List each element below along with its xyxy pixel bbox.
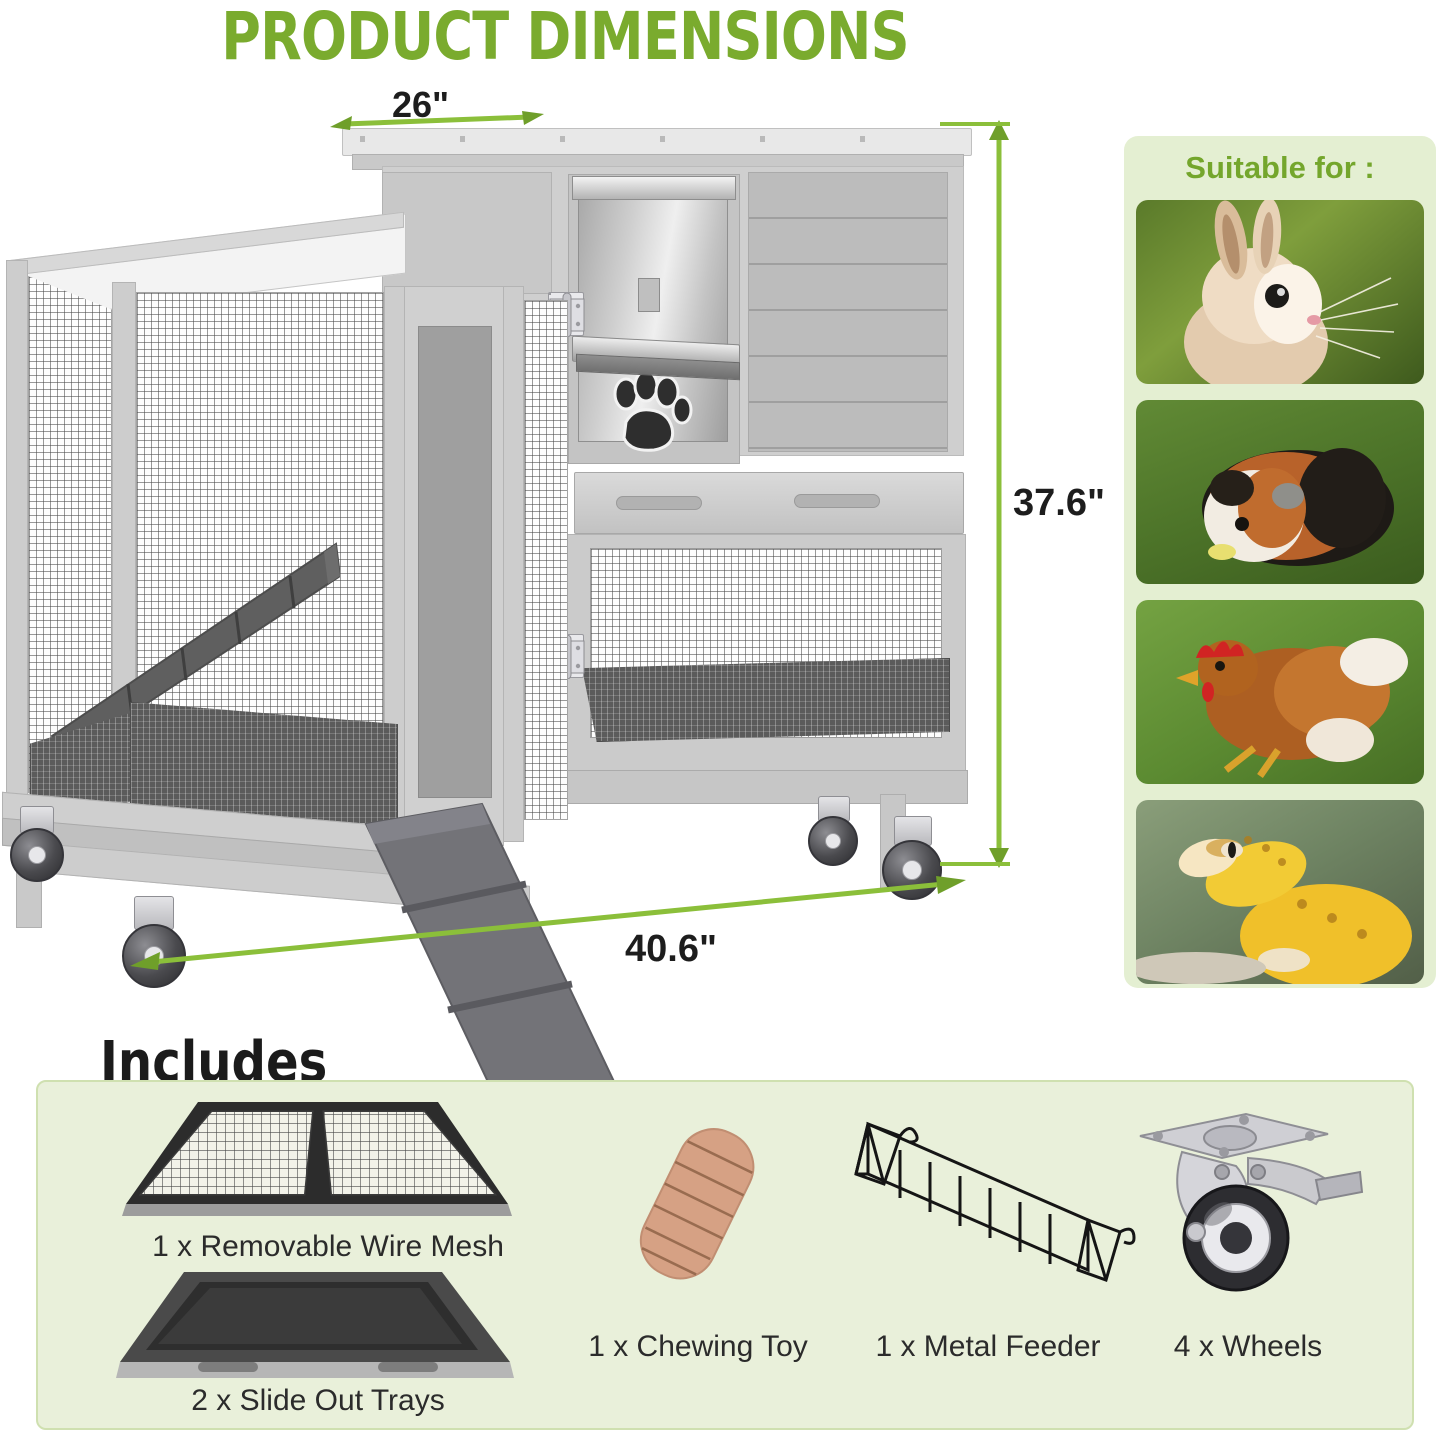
caster-rear-right: [806, 796, 862, 872]
dimension-tick-top: [940, 122, 1010, 126]
includes-label-slide-out-trays: 2 x Slide Out Trays: [118, 1384, 518, 1418]
caster-left-rear: [6, 806, 68, 890]
animal-photo-rabbit: [1136, 200, 1424, 384]
includes-item-metal-feeder: [838, 1102, 1138, 1302]
roof-screw-row: [360, 136, 956, 142]
hutch-roof: [342, 128, 972, 156]
dimension-arrow-height: [986, 120, 1012, 868]
includes-item-removable-wire-mesh: [108, 1096, 528, 1226]
animal-photo-leopard-gecko: [1136, 800, 1424, 984]
includes-label-wheels: 4 x Wheels: [1148, 1330, 1348, 1364]
run-left-post: [6, 260, 28, 840]
page-title: PRODUCT DIMENSIONS: [102, 0, 1029, 75]
suitable-for-title: Suitable for :: [1124, 150, 1436, 186]
paw-door-latch: [638, 278, 660, 312]
drawer-handle-right[interactable]: [794, 494, 880, 508]
infographic-page: PRODUCT DIMENSIONS: [0, 0, 1445, 1446]
lower-base-rail: [562, 770, 968, 804]
includes-item-chewing-toy: [598, 1102, 798, 1302]
run-access-door-window: [418, 326, 492, 798]
includes-label-chewing-toy: 1 x Chewing Toy: [566, 1330, 830, 1364]
includes-item-slide-out-trays: [100, 1266, 530, 1396]
lower-compartment-tray: [582, 658, 950, 742]
animal-photo-guinea-pig: [1136, 400, 1424, 584]
dimension-label-width: 26": [392, 84, 449, 126]
includes-panel: 1 x Removable Wire Mesh 2 x Slide Out Tr…: [36, 1080, 1414, 1430]
suitable-for-panel: Suitable for :: [1124, 136, 1436, 988]
run-door-mesh: [524, 300, 568, 820]
dimension-arrow-depth: [130, 868, 966, 978]
drawer-handle-left[interactable]: [616, 496, 702, 510]
dimension-label-depth: 40.6": [625, 928, 717, 971]
hutch-slat-panel: [748, 172, 948, 452]
run-top-wall: [382, 172, 552, 294]
animal-photo-chicken: [1136, 600, 1424, 784]
includes-item-wheels: [1118, 1096, 1368, 1306]
includes-label-removable-wire-mesh: 1 x Removable Wire Mesh: [118, 1230, 538, 1264]
paw-door-top-rail: [572, 176, 736, 200]
dimension-tick-bottom: [940, 862, 1010, 866]
dimension-label-height: 37.6": [1013, 482, 1105, 525]
includes-label-metal-feeder: 1 x Metal Feeder: [858, 1330, 1118, 1364]
